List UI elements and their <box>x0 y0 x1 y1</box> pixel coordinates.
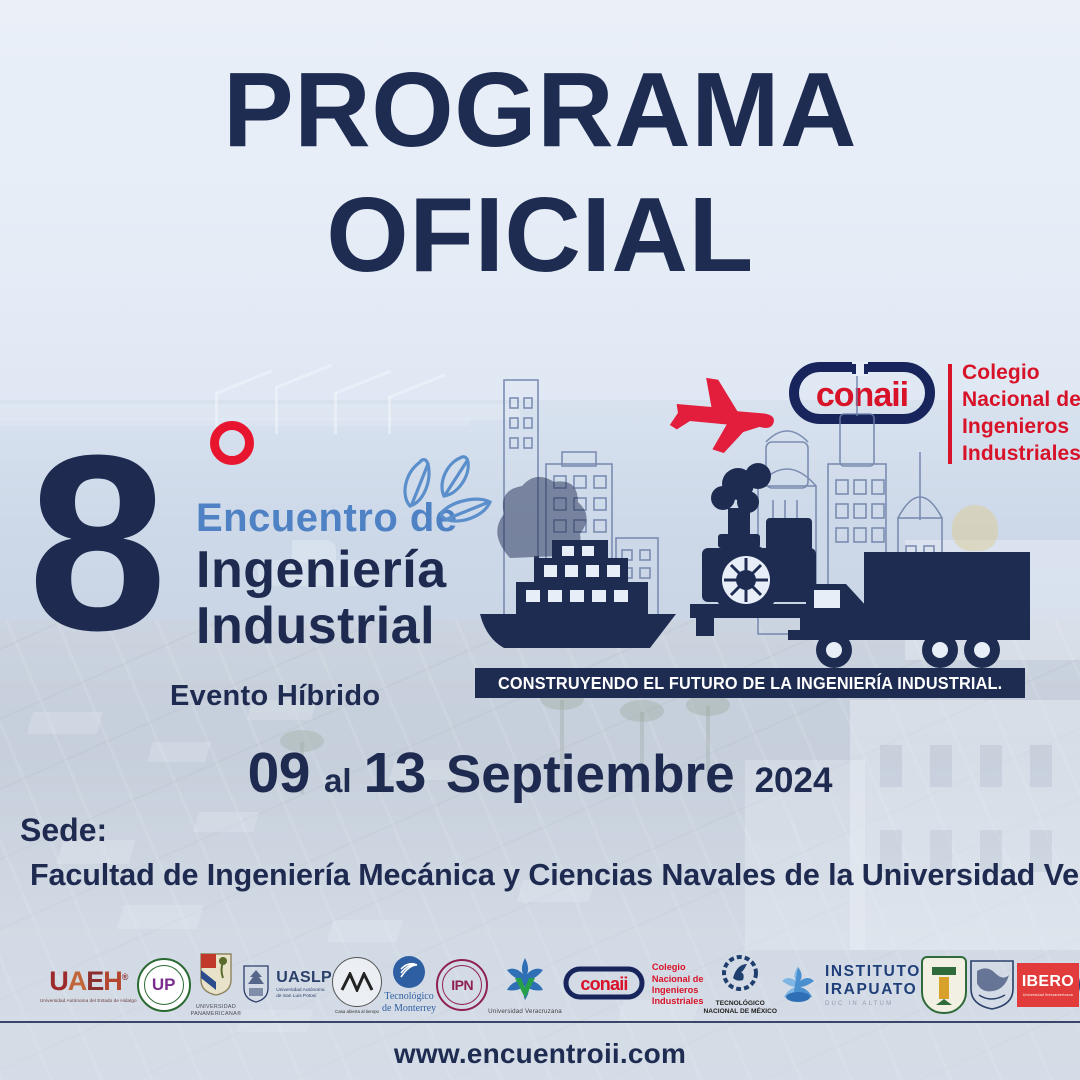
uaeh-wordmark: UAEH® <box>49 968 127 995</box>
ipn-initials: IPN <box>451 977 473 993</box>
event-poster: PROGRAMA OFICIAL 8 Encuentro de Ingenier… <box>0 0 1080 1080</box>
uaeh-subtitle: Universidad Autónoma del Estado de Hidal… <box>40 998 137 1003</box>
sponsor-logo-uaslp[interactable]: UASLP Universidad Autónoma de San Luis P… <box>241 952 332 1018</box>
uv-subtitle: Universidad Veracruzana <box>488 1008 562 1015</box>
venue-label: Sede: <box>20 812 107 849</box>
tec-monterrey-wordmark: Tecnológico de Monterrey <box>382 991 436 1014</box>
irapuato-wordmark: INSTITUTOIRAPUATO <box>825 963 921 998</box>
date-connector: al <box>324 762 352 799</box>
sponsor-logo-ibero[interactable]: IBERO Universidad Iberoamericana <box>1017 952 1079 1018</box>
ipn-seal-icon: IPN <box>436 959 488 1011</box>
footer-divider <box>0 1021 1080 1023</box>
wordmark-line-industrial: Industrial <box>196 598 458 654</box>
tec-monterrey-icon <box>393 956 425 988</box>
website-url[interactable]: www.encuentroii.com <box>0 1038 1080 1070</box>
date-day-start: 09 <box>248 741 310 805</box>
sponsor-logo-uaeh[interactable]: UAEH® Universidad Autónoma del Estado de… <box>40 952 137 1018</box>
sponsor-logo-universidad-de-guanajuato[interactable] <box>921 952 967 1018</box>
date-day-end: 13 <box>364 741 426 805</box>
up-seal-initials: UP <box>152 975 176 995</box>
uv-mark-icon <box>499 956 551 1005</box>
sponsor-logo-tec-de-monterrey[interactable]: Tecnológico de Monterrey <box>382 952 436 1018</box>
wordmark-line-ingenieria: Ingeniería <box>196 542 458 598</box>
illustration-banner: CONSTRUYENDO EL FUTURO DE LA INGENIERÍA … <box>475 668 1025 698</box>
title-line-1: PROGRAMA <box>223 51 857 169</box>
uaslp-subtitle: Universidad Autónoma de San Luis Potosí <box>276 988 324 1000</box>
panamericana-shield-icon <box>199 952 233 1001</box>
uam-seal-icon <box>332 957 382 1007</box>
panamericana-subtitle: UNIVERSIDAD PANAMERICANA® <box>191 1004 242 1018</box>
event-dates: 09al13Septiembre2024 <box>0 740 1080 806</box>
svg-text:conaii: conaii <box>580 974 627 994</box>
sponsor-logo-tecnm[interactable]: TECNOLÓGICO NACIONAL DE MÉXICO <box>703 952 777 1018</box>
uaslp-crest-icon <box>241 962 271 1009</box>
uaslp-wordmark: UASLP <box>276 970 332 986</box>
sponsor-logo-instituto-irapuato[interactable]: INSTITUTOIRAPUATO DUC IN ALTUM <box>777 952 921 1018</box>
event-modality: Evento Híbrido <box>170 680 380 713</box>
truck-icon <box>788 552 1030 668</box>
title-line-2: OFICIAL <box>0 173 1080 298</box>
venue-name: Facultad de Ingeniería Mecánica y Cienci… <box>30 858 1080 893</box>
tecnm-wordmark: TECNOLÓGICO NACIONAL DE MÉXICO <box>703 1000 777 1016</box>
sponsor-logo-ipn[interactable]: IPN <box>436 952 488 1018</box>
unam-shield-icon <box>967 955 1017 1016</box>
sponsor-logo-universidad-veracruzana[interactable]: Universidad Veracruzana <box>488 952 562 1018</box>
sponsor-logo-up-seal[interactable]: UP <box>137 952 191 1018</box>
sponsor-logo-uam[interactable]: Casa abierta al tiempo <box>332 952 382 1018</box>
ibero-wordmark: IBERO <box>1022 973 1074 991</box>
date-year: 2024 <box>755 761 833 800</box>
uam-subtitle: Casa abierta al tiempo <box>335 1009 379 1014</box>
ibero-subtitle: Universidad Iberoamericana <box>1023 993 1073 997</box>
sponsor-logo-conaii[interactable]: conaii Colegio Nacional de Ingenieros In… <box>562 952 704 1018</box>
degree-symbol-icon <box>210 421 254 465</box>
sponsor-logo-universidad-panamericana[interactable]: UNIVERSIDAD PANAMERICANA® <box>191 952 242 1018</box>
ibero-badge: IBERO Universidad Iberoamericana <box>1017 963 1079 1007</box>
poster-title: PROGRAMA OFICIAL <box>0 48 1080 298</box>
irapuato-mark-icon <box>777 963 819 1008</box>
sponsor-logo-unam[interactable] <box>967 952 1017 1018</box>
guanajuato-crest-icon <box>921 956 967 1014</box>
up-seal-icon: UP <box>137 958 191 1012</box>
tecnm-eagle-gear-icon <box>721 954 759 997</box>
airplane-icon <box>667 370 781 465</box>
sponsor-logo-strip: UAEH® Universidad Autónoma del Estado de… <box>40 950 1050 1020</box>
conaii-small-fullname: Colegio Nacional de Ingenieros Industria… <box>652 962 704 1008</box>
conaii-small-mark-icon: conaii <box>562 966 646 1005</box>
industry-illustration <box>470 368 1030 688</box>
illustration-banner-text: CONSTRUYENDO EL FUTURO DE LA INGENIERÍA … <box>498 673 1002 694</box>
date-month: Septiembre <box>446 745 735 804</box>
irapuato-motto: DUC IN ALTUM <box>825 1001 893 1007</box>
